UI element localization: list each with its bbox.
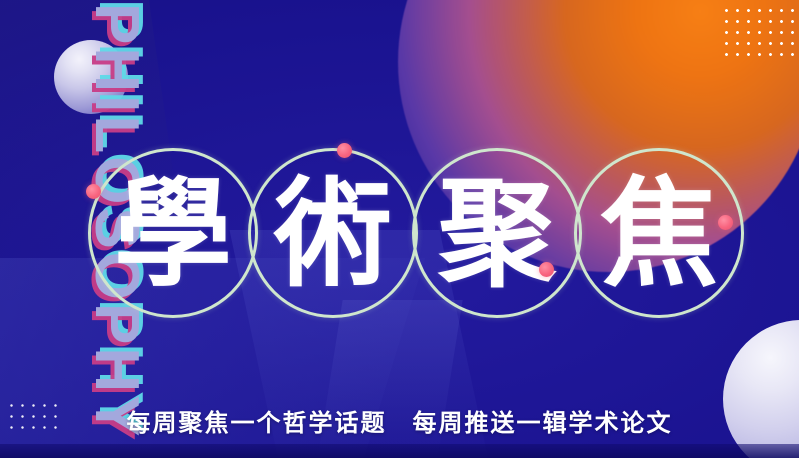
headline-char-1: 學 — [103, 175, 243, 293]
orbit-dot-3 — [539, 262, 554, 277]
orbit-dot-1 — [86, 184, 101, 199]
headline-char-2: 術 — [263, 175, 403, 293]
orbit-dot-4 — [718, 215, 733, 230]
poster-canvas: PHILOSOPHY PHILOSOPHY PHILOSOPHY 學 術 聚 焦… — [0, 0, 799, 458]
bottom-strip — [0, 444, 799, 458]
dot-grid-top-right-icon — [719, 2, 795, 64]
headline-char-4: 焦 — [589, 175, 729, 293]
orbit-dot-2 — [337, 143, 352, 158]
tagline-text: 每周聚焦一个哲学话题 每周推送一辑学术论文 — [0, 403, 799, 438]
